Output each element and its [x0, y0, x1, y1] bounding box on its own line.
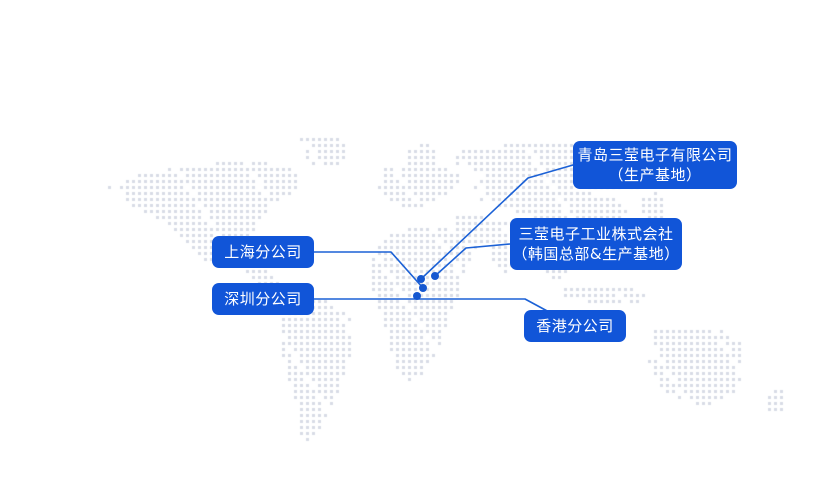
label-qingdao-line-2: （生产基地） — [608, 165, 701, 185]
world-map-infographic: 青岛三莹电子有限公司（生产基地）三莹电子工业株式会社（韩国总部&生产基地）上海分… — [0, 0, 824, 480]
label-korea-hq-line-1: 三莹电子工业株式会社 — [518, 224, 673, 244]
label-korea-hq-line-2: （韩国总部&生产基地） — [512, 244, 679, 264]
connector-line-shanghai — [314, 252, 423, 288]
label-qingdao-line-1: 青岛三莹电子有限公司 — [577, 145, 732, 165]
marker-dot-shanghai[interactable] — [419, 284, 427, 292]
label-qingdao[interactable]: 青岛三莹电子有限公司（生产基地） — [573, 141, 737, 189]
label-shenzhen-line-1: 深圳分公司 — [224, 289, 302, 309]
marker-dot-korea[interactable] — [431, 272, 439, 280]
label-shenzhen[interactable]: 深圳分公司 — [212, 283, 314, 315]
label-shanghai[interactable]: 上海分公司 — [212, 236, 314, 268]
label-shanghai-line-1: 上海分公司 — [224, 242, 302, 262]
marker-dot-hongkong[interactable] — [413, 292, 421, 300]
marker-dot-qingdao[interactable] — [417, 275, 425, 283]
connector-lines-layer — [0, 0, 824, 480]
label-hongkong-line-1: 香港分公司 — [536, 316, 614, 336]
label-hongkong[interactable]: 香港分公司 — [524, 310, 626, 342]
connector-line-korea — [435, 244, 510, 276]
label-korea-hq[interactable]: 三莹电子工业株式会社（韩国总部&生产基地） — [510, 218, 682, 270]
